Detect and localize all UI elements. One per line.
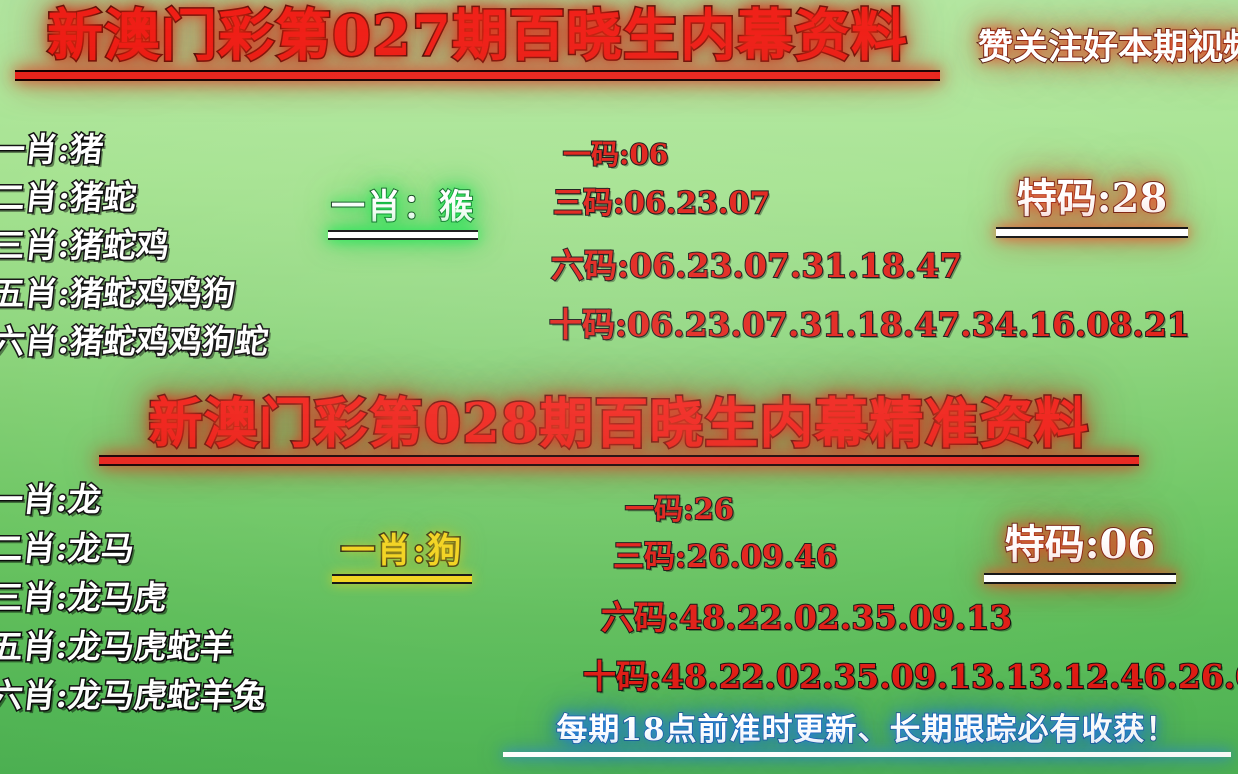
zodiac-row: 三肖:猪蛇鸡: [0, 229, 270, 262]
zodiac-row: 一肖:龙: [0, 483, 268, 516]
banner-title-028: 新澳门彩第028期百晓生内幕精准资料: [88, 396, 1150, 466]
special-code-section-one-underline: [996, 227, 1188, 238]
banner-title-028-text: 新澳门彩第028期百晓生内幕精准资料: [149, 396, 1090, 450]
poster-canvas: 新澳门彩第027期百晓生内幕资料 赞关注好本期视频 一肖:猪 二肖:猪蛇 三肖:…: [0, 0, 1238, 774]
footer-notice: 每期18点前准时更新、长期跟踪必有收获！: [496, 714, 1238, 757]
banner-title-027: 新澳门彩第027期百晓生内幕资料: [0, 8, 955, 81]
zodiac-list-section-two: 一肖:龙 二肖:龙马 三肖:龙马虎 五肖:龙马虎蛇羊 六肖:龙马虎蛇羊兔: [0, 483, 266, 728]
pick-highlight-section-one-underline: [328, 230, 478, 240]
code-row: 一码:06: [563, 141, 1190, 169]
special-code-section-one-text: 特码:28: [1017, 178, 1167, 220]
footer-notice-underline: [503, 752, 1231, 757]
banner-title-027-underline: [15, 70, 940, 81]
zodiac-row: 六肖:猪蛇鸡鸡狗蛇: [0, 325, 270, 358]
banner-title-028-underline: [99, 455, 1139, 466]
special-code-section-two-text: 特码:06: [1005, 524, 1155, 566]
code-row: 六码:48.22.02.35.09.13: [601, 601, 1238, 634]
zodiac-row: 一肖:猪: [0, 133, 270, 166]
code-row: 十码:48.22.02.35.09.13.13.12.46.26.03: [583, 660, 1238, 693]
code-row: 十码:06.23.07.31.18.47.34.16.08.21: [549, 308, 1190, 341]
pick-highlight-section-two: 一肖:狗: [332, 534, 472, 584]
code-row: 一码:26: [625, 495, 1238, 524]
zodiac-row: 五肖:猪蛇鸡鸡狗: [0, 277, 270, 310]
code-row: 六码:06.23.07.31.18.47: [551, 249, 1190, 282]
footer-notice-text: 每期18点前准时更新、长期跟踪必有收获！: [556, 714, 1177, 747]
zodiac-row: 六肖:龙马虎蛇羊兔: [0, 679, 268, 712]
promo-follow-text: 赞关注好本期视频: [978, 30, 1238, 67]
special-code-section-two: 特码:06: [984, 524, 1176, 584]
pick-highlight-section-one-text: 一肖：猴: [331, 190, 475, 226]
zodiac-row: 三肖:龙马虎: [0, 581, 268, 614]
pick-highlight-section-two-underline: [332, 574, 472, 584]
code-list-section-one: 一码:06 三码:06.23.07 六码:06.23.07.31.18.47 十…: [553, 141, 1190, 341]
pick-highlight-section-two-text: 一肖:狗: [341, 534, 464, 570]
zodiac-row: 五肖:龙马虎蛇羊: [0, 630, 268, 663]
special-code-section-two-underline: [984, 573, 1176, 584]
pick-highlight-section-one: 一肖：猴: [328, 190, 478, 240]
zodiac-row: 二肖:龙马: [0, 532, 268, 565]
zodiac-list-section-one: 一肖:猪 二肖:猪蛇 三肖:猪蛇鸡 五肖:猪蛇鸡鸡狗 六肖:猪蛇鸡鸡狗蛇: [0, 133, 268, 373]
zodiac-row: 二肖:猪蛇: [0, 181, 270, 214]
special-code-section-one: 特码:28: [996, 178, 1188, 238]
banner-title-027-text: 新澳门彩第027期百晓生内幕资料: [47, 8, 908, 64]
